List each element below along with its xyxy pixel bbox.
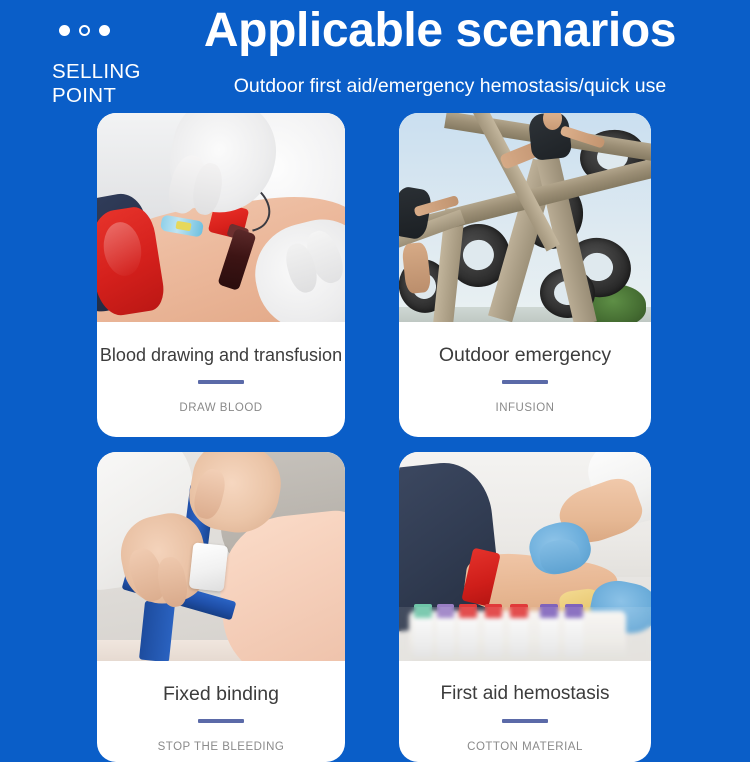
scenario-photo-fixed-binding bbox=[97, 452, 345, 661]
scenario-title: Fixed binding bbox=[163, 682, 279, 706]
scenario-card-first-aid-hemostasis[interactable]: First aid hemostasis COTTON MATERIAL bbox=[399, 452, 651, 762]
page-title: Applicable scenarios bbox=[170, 2, 710, 60]
scenario-photo-outdoor-emergency bbox=[399, 113, 651, 322]
scenario-card-fixed-binding[interactable]: Fixed binding STOP THE BLEEDING bbox=[97, 452, 345, 762]
scenario-title: Blood drawing and transfusion bbox=[100, 343, 342, 367]
scenario-title: Outdoor emergency bbox=[439, 343, 611, 367]
climber-head-shape bbox=[543, 113, 562, 130]
caption-divider bbox=[198, 719, 244, 723]
dot-solid-left-icon bbox=[59, 25, 70, 36]
scenario-caption: First aid hemostasis COTTON MATERIAL bbox=[399, 661, 651, 762]
dot-ring-middle-icon bbox=[79, 25, 90, 36]
blue-band-tail-shape bbox=[139, 601, 175, 661]
caption-divider bbox=[502, 719, 548, 723]
white-buckle-shape bbox=[189, 542, 228, 591]
dot-solid-right-icon bbox=[99, 25, 110, 36]
scenario-photo-first-aid-hemostasis bbox=[399, 452, 651, 661]
scenario-subtitle: STOP THE BLEEDING bbox=[158, 740, 285, 755]
scenario-title: First aid hemostasis bbox=[441, 682, 610, 706]
badge-dots bbox=[59, 25, 110, 36]
scenario-card-blood-drawing[interactable]: Blood drawing and transfusion DRAW BLOOD bbox=[97, 113, 345, 437]
scenario-photo-blood-drawing bbox=[97, 113, 345, 322]
scenario-subtitle: COTTON MATERIAL bbox=[467, 740, 583, 755]
scenario-subtitle: INFUSION bbox=[496, 401, 555, 416]
scenario-card-outdoor-emergency[interactable]: Outdoor emergency INFUSION bbox=[399, 113, 651, 437]
scenario-caption: Outdoor emergency INFUSION bbox=[399, 322, 651, 437]
caption-divider bbox=[198, 380, 244, 384]
scenario-caption: Blood drawing and transfusion DRAW BLOOD bbox=[97, 322, 345, 437]
scenario-caption: Fixed binding STOP THE BLEEDING bbox=[97, 661, 345, 762]
foreground-blur-overlay bbox=[399, 607, 651, 661]
scenario-subtitle: DRAW BLOOD bbox=[179, 401, 262, 416]
caption-divider bbox=[502, 380, 548, 384]
page-subtitle: Outdoor first aid/emergency hemostasis/q… bbox=[150, 73, 750, 99]
